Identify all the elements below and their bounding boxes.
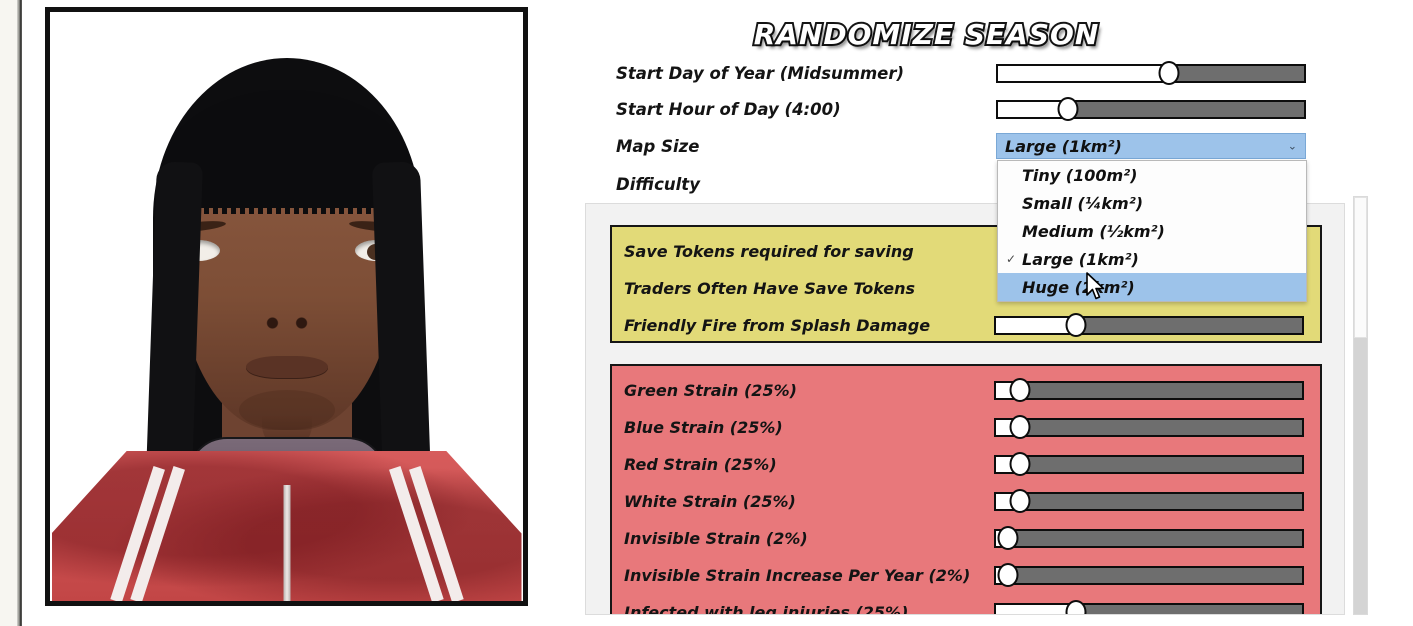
portrait-mouth	[246, 356, 328, 378]
left-edge-divider	[17, 0, 22, 626]
portrait-jacket-zipper	[283, 485, 290, 601]
left-edge-strip	[0, 0, 17, 626]
option-label: Start Hour of Day (4:00)	[616, 100, 996, 119]
app-root: RANDOMIZE SEASON Start Day of Year (Mids…	[0, 0, 1413, 626]
slider-fill	[996, 318, 1076, 333]
setting-label: Friendly Fire from Splash Damage	[624, 316, 994, 335]
slider-fill	[998, 66, 1169, 81]
dropdown-map-size-list[interactable]: Tiny (100m²) Small (¼km²) Medium (½km²) …	[997, 160, 1307, 302]
option-row-start-day: Start Day of Year (Midsummer)	[616, 56, 1396, 90]
character-portrait-frame[interactable]	[45, 7, 528, 606]
setting-row-friendly-fire: Friendly Fire from Splash Damage	[624, 309, 1310, 341]
page-title: RANDOMIZE SEASON	[540, 18, 1313, 51]
slider-invisible-strain[interactable]	[994, 529, 1304, 548]
vertical-scrollbar[interactable]	[1353, 196, 1368, 615]
slider-thumb[interactable]	[998, 563, 1019, 587]
combo-selected-value: Large (1km²)	[1005, 137, 1122, 156]
dropdown-option-label: Huge (2km²)	[1022, 278, 1135, 297]
setting-label: Invisible Strain Increase Per Year (2%)	[624, 566, 994, 585]
setting-row-white-strain: White Strain (25%)	[624, 485, 1310, 517]
combo-map-size[interactable]: Large (1km²) ⌄ Tiny (100m²) Small (¼km²)…	[996, 133, 1306, 159]
chevron-down-icon: ⌄	[1288, 140, 1297, 153]
setting-label: White Strain (25%)	[624, 492, 994, 511]
settings-pane: RANDOMIZE SEASON Start Day of Year (Mids…	[540, 0, 1413, 626]
scrollbar-track[interactable]	[1354, 338, 1367, 614]
slider-thumb[interactable]	[1010, 452, 1031, 476]
slider-thumb[interactable]	[1058, 97, 1079, 121]
slider-friendly-fire-splash[interactable]	[994, 316, 1304, 335]
scrollbar-thumb[interactable]	[1354, 197, 1367, 338]
slider-white-strain[interactable]	[994, 492, 1304, 511]
setting-label: Invisible Strain (2%)	[624, 529, 994, 548]
slider-start-hour-of-day[interactable]	[996, 100, 1306, 119]
portrait-chin-shadow	[239, 390, 335, 430]
slider-thumb[interactable]	[1010, 489, 1031, 513]
slider-thumb[interactable]	[1010, 415, 1031, 439]
slider-thumb[interactable]	[1065, 313, 1086, 337]
setting-label: Red Strain (25%)	[624, 455, 994, 474]
setting-label: Blue Strain (25%)	[624, 418, 994, 437]
slider-thumb[interactable]	[998, 526, 1019, 550]
setting-row-invisible-strain-increase: Invisible Strain Increase Per Year (2%)	[624, 559, 1310, 591]
setting-label: Green Strain (25%)	[624, 381, 994, 400]
option-label: Map Size	[616, 137, 996, 156]
dropdown-option-large[interactable]: ✓ Large (1km²)	[998, 245, 1306, 273]
option-label: Difficulty	[616, 175, 996, 194]
dropdown-option-label: Small (¼km²)	[1022, 194, 1143, 213]
slider-infected-leg-injuries[interactable]	[994, 603, 1304, 616]
portrait-nostrils	[261, 317, 313, 329]
setting-label: Save Tokens required for saving	[624, 242, 994, 261]
dropdown-option-label: Large (1km²)	[1022, 250, 1139, 269]
setting-label: Traders Often Have Save Tokens	[624, 279, 994, 298]
setting-row-red-strain: Red Strain (25%)	[624, 448, 1310, 480]
dropdown-option-tiny[interactable]: Tiny (100m²)	[998, 161, 1306, 189]
character-portrait-image	[50, 12, 523, 601]
slider-thumb[interactable]	[1159, 61, 1180, 85]
setting-label: Infected with leg injuries (25%)	[624, 603, 994, 616]
setting-row-blue-strain: Blue Strain (25%)	[624, 411, 1310, 443]
dropdown-option-label: Medium (½km²)	[1022, 222, 1165, 241]
portrait-jacket	[52, 451, 522, 601]
setting-row-invisible-strain: Invisible Strain (2%)	[624, 522, 1310, 554]
dropdown-option-huge[interactable]: Huge (2km²)	[998, 273, 1306, 301]
setting-row-infected-leg-injuries: Infected with leg injuries (25%)	[624, 596, 1310, 615]
option-row-map-size: Map Size Large (1km²) ⌄ Tiny (100m²) Sma…	[616, 129, 1396, 163]
dropdown-option-small[interactable]: Small (¼km²)	[998, 189, 1306, 217]
option-row-start-hour: Start Hour of Day (4:00)	[616, 92, 1396, 126]
group-strains: Green Strain (25%) Blue Strain (25%) Red…	[610, 364, 1322, 615]
slider-start-day-of-year[interactable]	[996, 64, 1306, 83]
slider-blue-strain[interactable]	[994, 418, 1304, 437]
slider-invisible-strain-increase[interactable]	[994, 566, 1304, 585]
slider-thumb[interactable]	[1010, 378, 1031, 402]
dropdown-option-medium[interactable]: Medium (½km²)	[998, 217, 1306, 245]
slider-thumb[interactable]	[1065, 600, 1086, 615]
option-label: Start Day of Year (Midsummer)	[616, 64, 996, 83]
slider-red-strain[interactable]	[994, 455, 1304, 474]
dropdown-option-label: Tiny (100m²)	[1022, 166, 1138, 185]
check-icon: ✓	[1006, 252, 1022, 266]
slider-fill	[996, 605, 1076, 616]
slider-green-strain[interactable]	[994, 381, 1304, 400]
setting-row-green-strain: Green Strain (25%)	[624, 374, 1310, 406]
